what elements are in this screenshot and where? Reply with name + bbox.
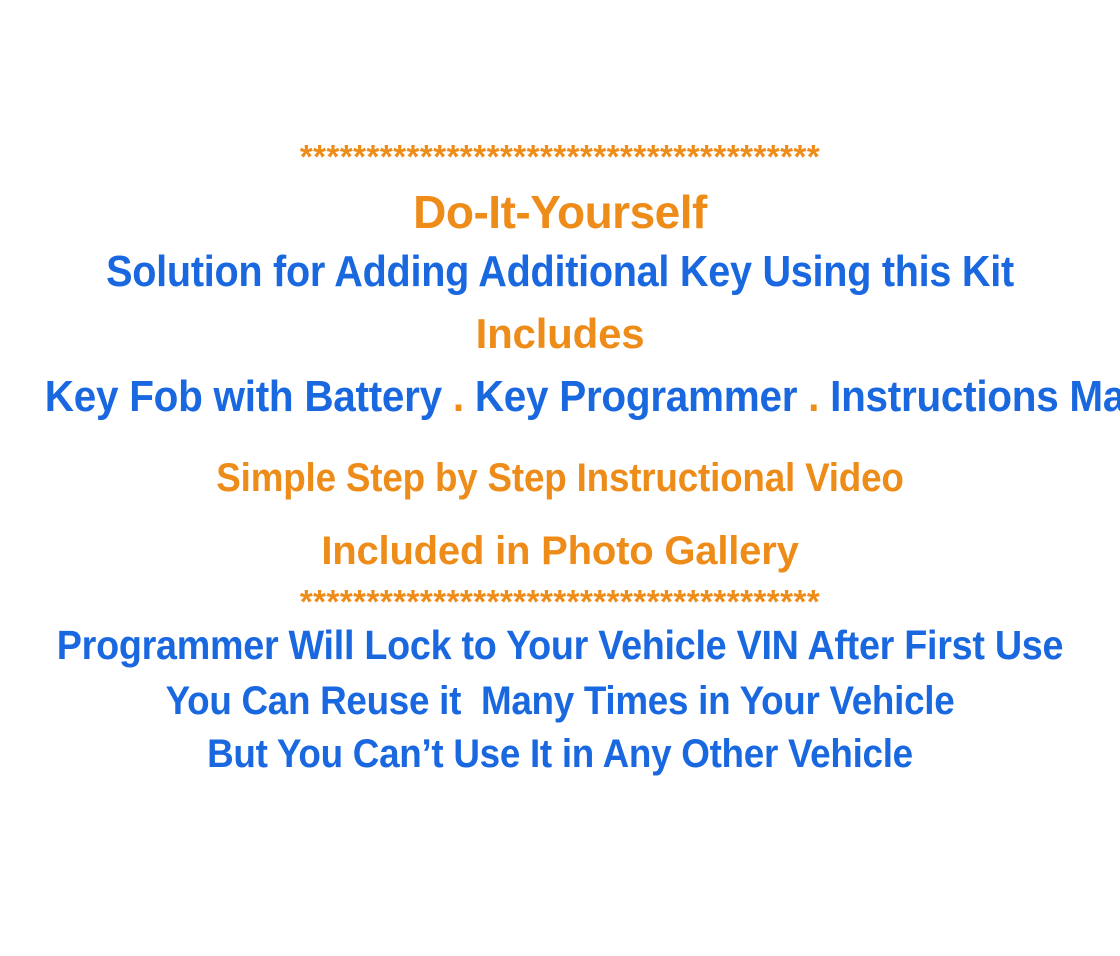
kit-contents-list: Key Fob with Battery . Key Programmer . … <box>45 375 1075 419</box>
promo-banner: *************************************** … <box>0 0 1120 956</box>
note-no-other-vehicle: But You Can’t Use It in Any Other Vehicl… <box>45 734 1075 774</box>
note-programmer-vin-lock: Programmer Will Lock to Your Vehicle VIN… <box>45 625 1075 666</box>
asterisk-divider-top: *************************************** <box>0 140 1120 173</box>
photo-gallery-note: Included in Photo Gallery <box>0 531 1120 571</box>
headline-do-it-yourself: Do-It-Yourself <box>0 189 1120 235</box>
includes-label: Includes <box>0 313 1120 355</box>
kit-content-item-instructions-manual: Instructions Manual <box>830 372 1120 421</box>
solution-statement: Solution for Adding Additional Key Using… <box>56 250 1064 294</box>
kit-content-item-key-fob: Key Fob with Battery <box>45 372 442 421</box>
note-reuse-many-times: You Can Reuse it Many Times in Your Vehi… <box>45 681 1075 721</box>
kit-content-item-key-programmer: Key Programmer <box>475 372 797 421</box>
content-separator-1: . <box>442 372 475 421</box>
content-separator-2: . <box>797 372 830 421</box>
instructional-video-note: Simple Step by Step Instructional Video <box>45 458 1075 498</box>
asterisk-divider-middle: *************************************** <box>0 585 1120 618</box>
